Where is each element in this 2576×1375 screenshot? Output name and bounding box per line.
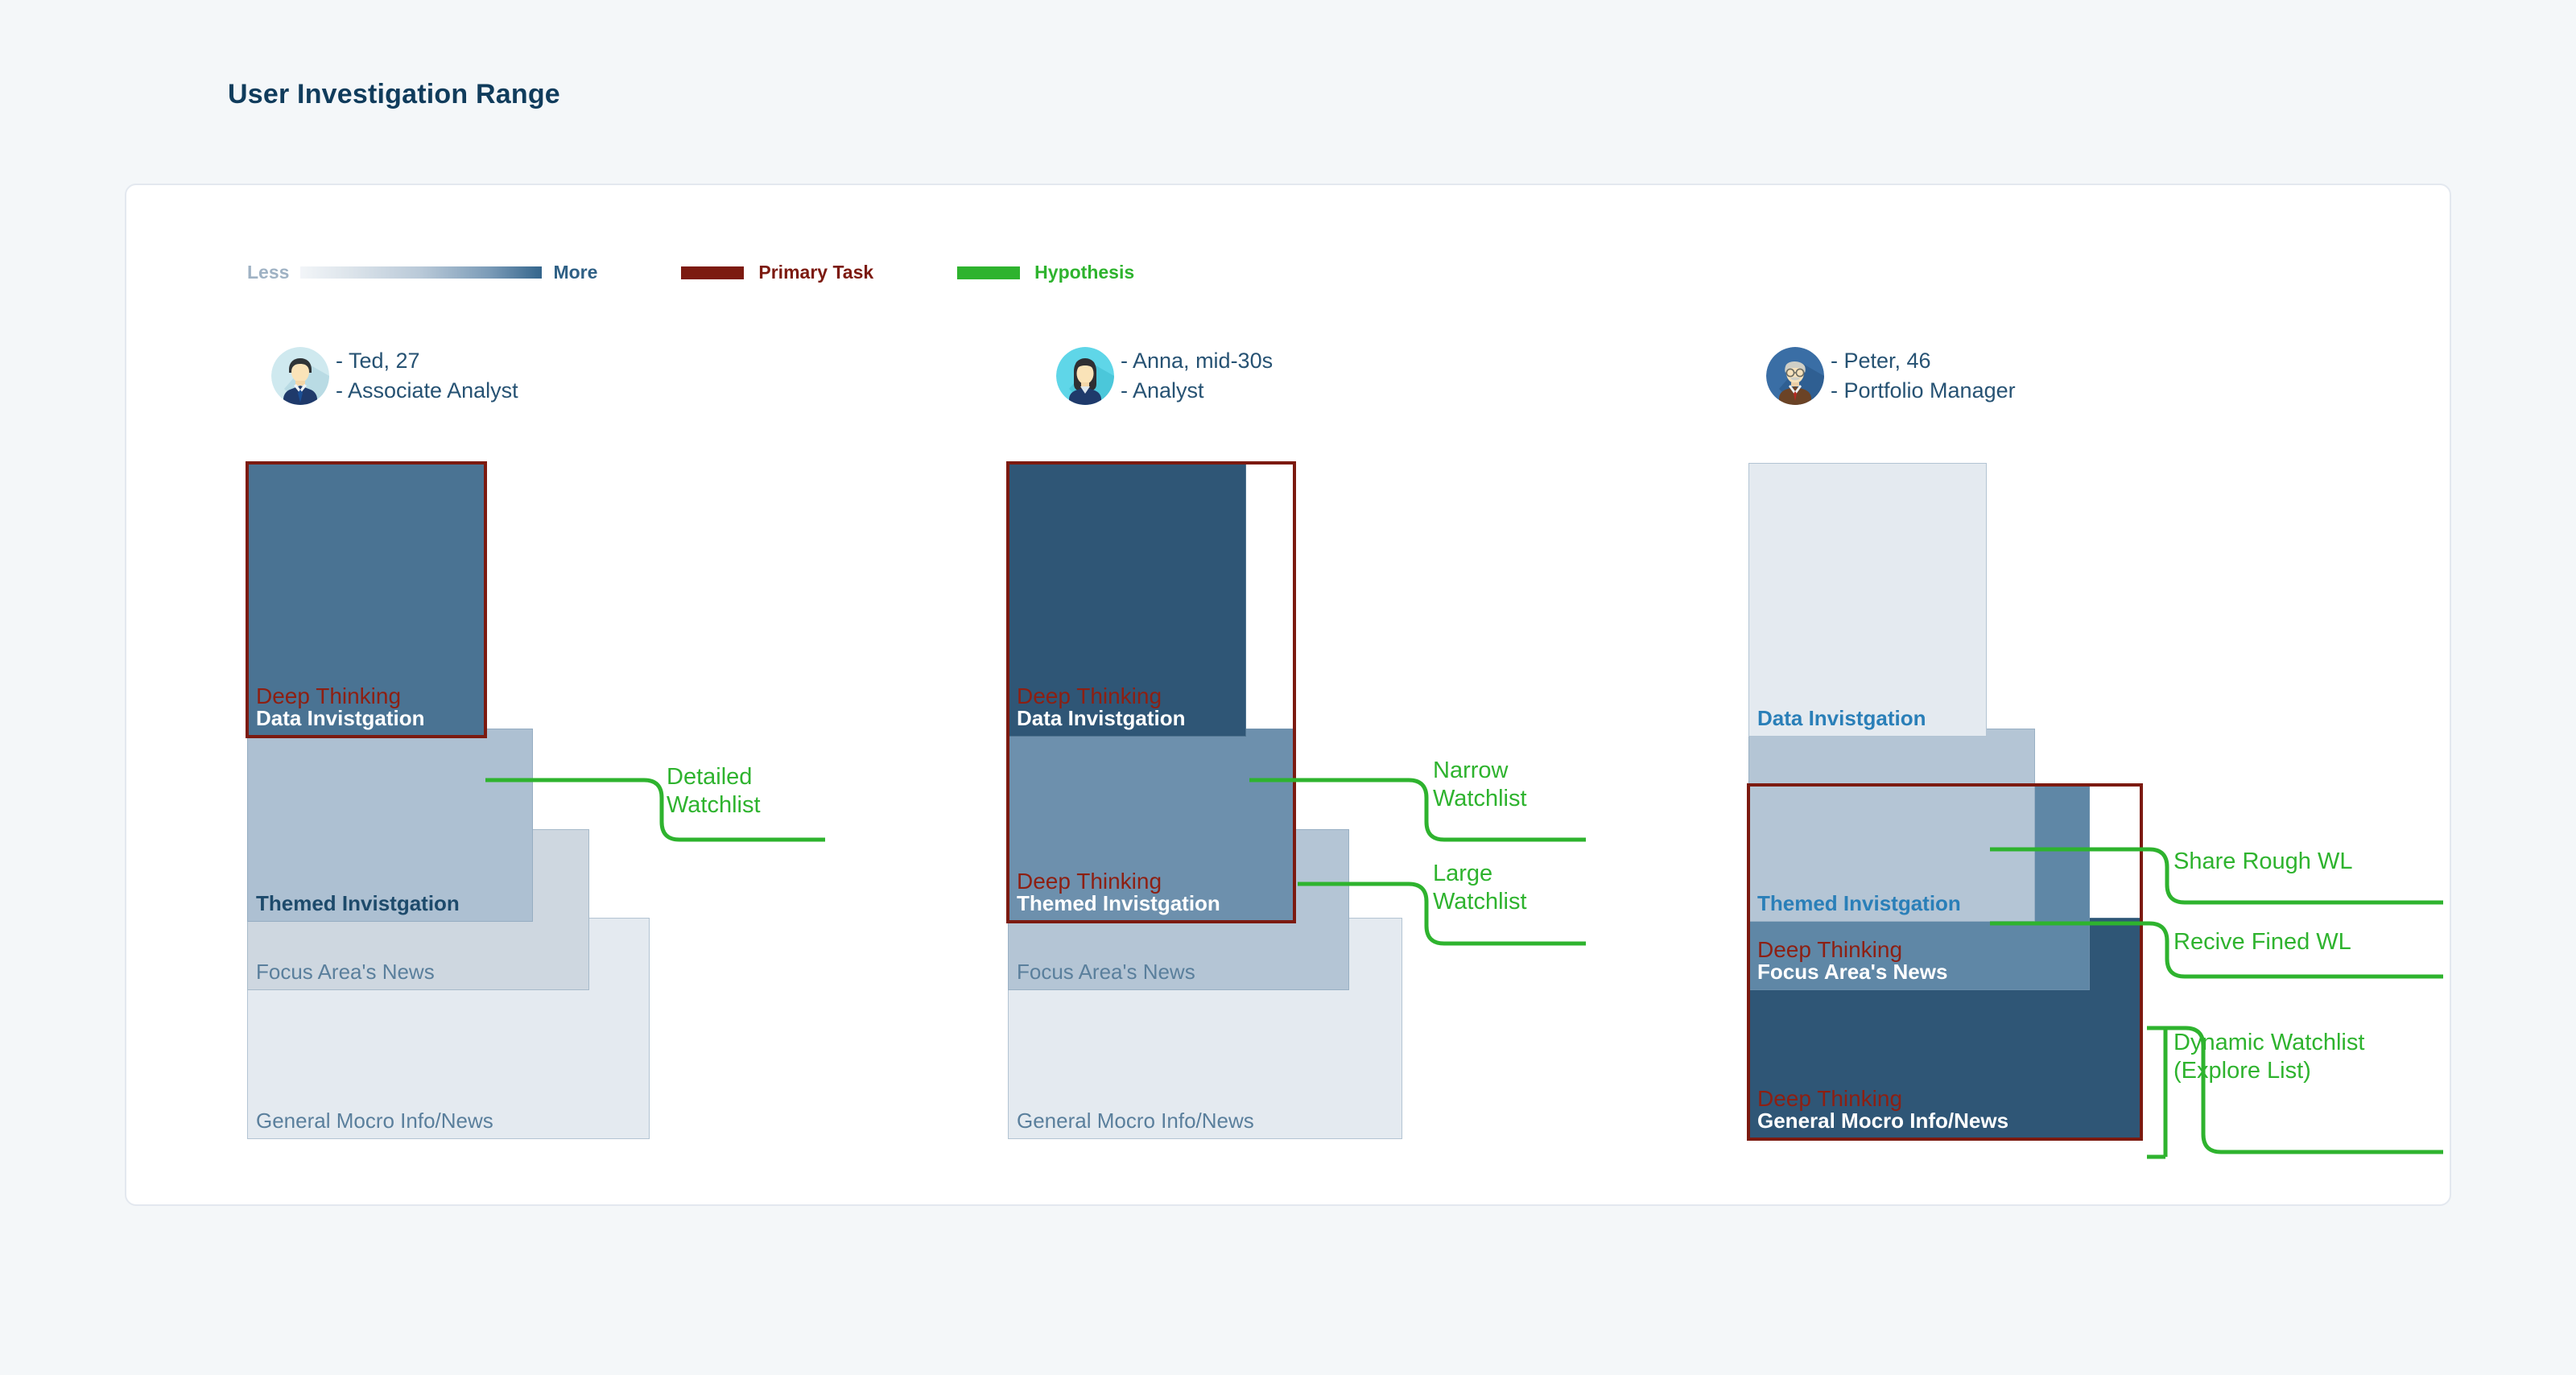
bar-tier-focus-area-label: Focus Area's News xyxy=(1757,961,1947,983)
callout-large-watchlist-line1: Large xyxy=(1433,860,1527,888)
hypothesis-swatch-icon xyxy=(957,266,1020,279)
legend-item-hypothesis: Hypothesis xyxy=(957,262,1134,283)
callout-narrow-watchlist-line1: Narrow xyxy=(1433,757,1527,785)
legend-gradient-bar xyxy=(300,266,542,279)
avatar-ted xyxy=(271,347,329,405)
persona-peter: - Peter, 46 - Portfolio Manager xyxy=(1766,346,2016,407)
bar-tier-themed-invistgation[interactable]: Deep Thinking Themed Invistgation xyxy=(1008,729,1294,922)
deep-thinking-label: Deep Thinking xyxy=(256,685,424,708)
bar-tier-data-invistgation-labels: Deep Thinking Data Invistgation xyxy=(256,685,424,729)
bar-tier-data-invistgation-label: Data Invistgation xyxy=(1017,708,1185,729)
bar-tier-general-mocro-label: General Mocro Info/News xyxy=(1017,1110,1254,1132)
callout-recive-fined-wl-line1: Recive Fined WL xyxy=(2173,928,2351,956)
callout-narrow-watchlist: Narrow Watchlist xyxy=(1433,757,1527,814)
primary-task-swatch-icon xyxy=(681,266,744,279)
callout-detailed-watchlist-line1: Detailed xyxy=(667,763,761,791)
callout-dynamic-watchlist: Dynamic Watchlist (Explore List) xyxy=(2173,1029,2364,1086)
bar-tier-themed-invistgation-labels: Themed Invistgation xyxy=(1757,893,1961,915)
callout-dynamic-watchlist-line1: Dynamic Watchlist xyxy=(2173,1029,2364,1057)
legend-scale-low-label: Less xyxy=(247,262,289,283)
bar-tier-data-invistgation[interactable]: Deep Thinking Data Invistgation xyxy=(1008,463,1246,737)
bar-tier-focus-area-labels: Deep Thinking Focus Area's News xyxy=(1757,939,1947,983)
persona-anna: - Anna, mid-30s - Analyst xyxy=(1056,346,1273,407)
page-title: User Investigation Range xyxy=(228,79,560,110)
bar-tier-themed-invistgation-label: Themed Invistgation xyxy=(1017,893,1220,915)
deep-thinking-label: Deep Thinking xyxy=(1757,1088,2008,1111)
avatar-female-icon xyxy=(1056,347,1114,405)
callout-share-rough-wl-line1: Share Rough WL xyxy=(2173,848,2352,876)
callout-narrow-watchlist-line2: Watchlist xyxy=(1433,785,1527,813)
bar-tier-general-mocro-labels: Deep Thinking General Mocro Info/News xyxy=(1757,1088,2008,1132)
bar-tier-themed-invistgation[interactable]: Themed Invistgation xyxy=(1748,729,2035,922)
callout-detailed-watchlist-line2: Watchlist xyxy=(667,791,761,820)
legend: Less More Primary Task Hypothesis xyxy=(247,262,1134,283)
persona-ted-text: - Ted, 27 - Associate Analyst xyxy=(336,346,518,407)
bar-tier-data-invistgation-labels: Deep Thinking Data Invistgation xyxy=(1017,685,1185,729)
legend-item-primary-task-label: Primary Task xyxy=(758,262,873,283)
bar-tier-data-invistgation-label: Data Invistgation xyxy=(1757,708,1926,729)
bar-tier-themed-invistgation-labels: Deep Thinking Themed Invistgation xyxy=(1017,870,1220,915)
bar-tier-focus-area-label: Focus Area's News xyxy=(256,961,435,983)
persona-peter-text: - Peter, 46 - Portfolio Manager xyxy=(1831,346,2016,407)
bar-tier-general-mocro-label: General Mocro Info/News xyxy=(1757,1110,2008,1132)
callout-detailed-watchlist: Detailed Watchlist xyxy=(667,763,761,820)
persona-peter-name: - Peter, 46 xyxy=(1831,346,2016,376)
callout-share-rough-wl: Share Rough WL xyxy=(2173,848,2352,876)
bar-tier-themed-invistgation-labels: Themed Invistgation xyxy=(256,893,460,915)
bar-tier-themed-invistgation[interactable]: Themed Invistgation xyxy=(247,729,533,922)
callout-large-watchlist: Large Watchlist xyxy=(1433,860,1527,917)
avatar-peter xyxy=(1766,347,1824,405)
persona-anna-text: - Anna, mid-30s - Analyst xyxy=(1121,346,1273,407)
bar-tier-focus-area-labels: Focus Area's News xyxy=(1017,961,1195,983)
bar-tier-data-invistgation-label: Data Invistgation xyxy=(256,708,424,729)
bar-tier-general-mocro-label: General Mocro Info/News xyxy=(256,1110,493,1132)
legend-scale-high-label: More xyxy=(553,262,597,283)
avatar-male-young-icon xyxy=(271,347,329,405)
bar-tier-data-invistgation-labels: Data Invistgation xyxy=(1757,708,1926,729)
persona-anna-name: - Anna, mid-30s xyxy=(1121,346,1273,376)
bar-tier-general-mocro-labels: General Mocro Info/News xyxy=(1017,1110,1254,1132)
deep-thinking-label: Deep Thinking xyxy=(1017,685,1185,708)
avatar-anna xyxy=(1056,347,1114,405)
bar-tier-data-invistgation[interactable]: Data Invistgation xyxy=(1748,463,1987,737)
persona-anna-role: - Analyst xyxy=(1121,376,1273,406)
callout-recive-fined-wl: Recive Fined WL xyxy=(2173,928,2351,956)
deep-thinking-label: Deep Thinking xyxy=(1757,939,1947,962)
bar-tier-general-mocro-labels: General Mocro Info/News xyxy=(256,1110,493,1132)
persona-peter-role: - Portfolio Manager xyxy=(1831,376,2016,406)
chart-column-ted: General Mocro Info/News Focus Area's New… xyxy=(247,463,650,1139)
legend-item-hypothesis-label: Hypothesis xyxy=(1034,262,1134,283)
chart-column-peter: Deep Thinking General Mocro Info/News De… xyxy=(1748,463,2143,1139)
legend-scale: Less More xyxy=(247,262,597,283)
legend-item-primary-task: Primary Task xyxy=(681,262,873,283)
callout-large-watchlist-line2: Watchlist xyxy=(1433,888,1527,916)
persona-ted-role: - Associate Analyst xyxy=(336,376,518,406)
bar-tier-focus-area-labels: Focus Area's News xyxy=(256,961,435,983)
bar-tier-focus-area-label: Focus Area's News xyxy=(1017,961,1195,983)
bar-tier-data-invistgation[interactable]: Deep Thinking Data Invistgation xyxy=(247,463,485,737)
bar-tier-themed-invistgation-label: Themed Invistgation xyxy=(1757,893,1961,915)
avatar-male-senior-icon xyxy=(1766,347,1824,405)
deep-thinking-label: Deep Thinking xyxy=(1017,870,1220,894)
callout-dynamic-watchlist-line2: (Explore List) xyxy=(2173,1057,2364,1085)
bar-tier-themed-invistgation-label: Themed Invistgation xyxy=(256,893,460,915)
persona-ted: - Ted, 27 - Associate Analyst xyxy=(271,346,518,407)
chart-column-anna: General Mocro Info/News Focus Area's New… xyxy=(1008,463,1402,1139)
persona-ted-name: - Ted, 27 xyxy=(336,346,518,376)
